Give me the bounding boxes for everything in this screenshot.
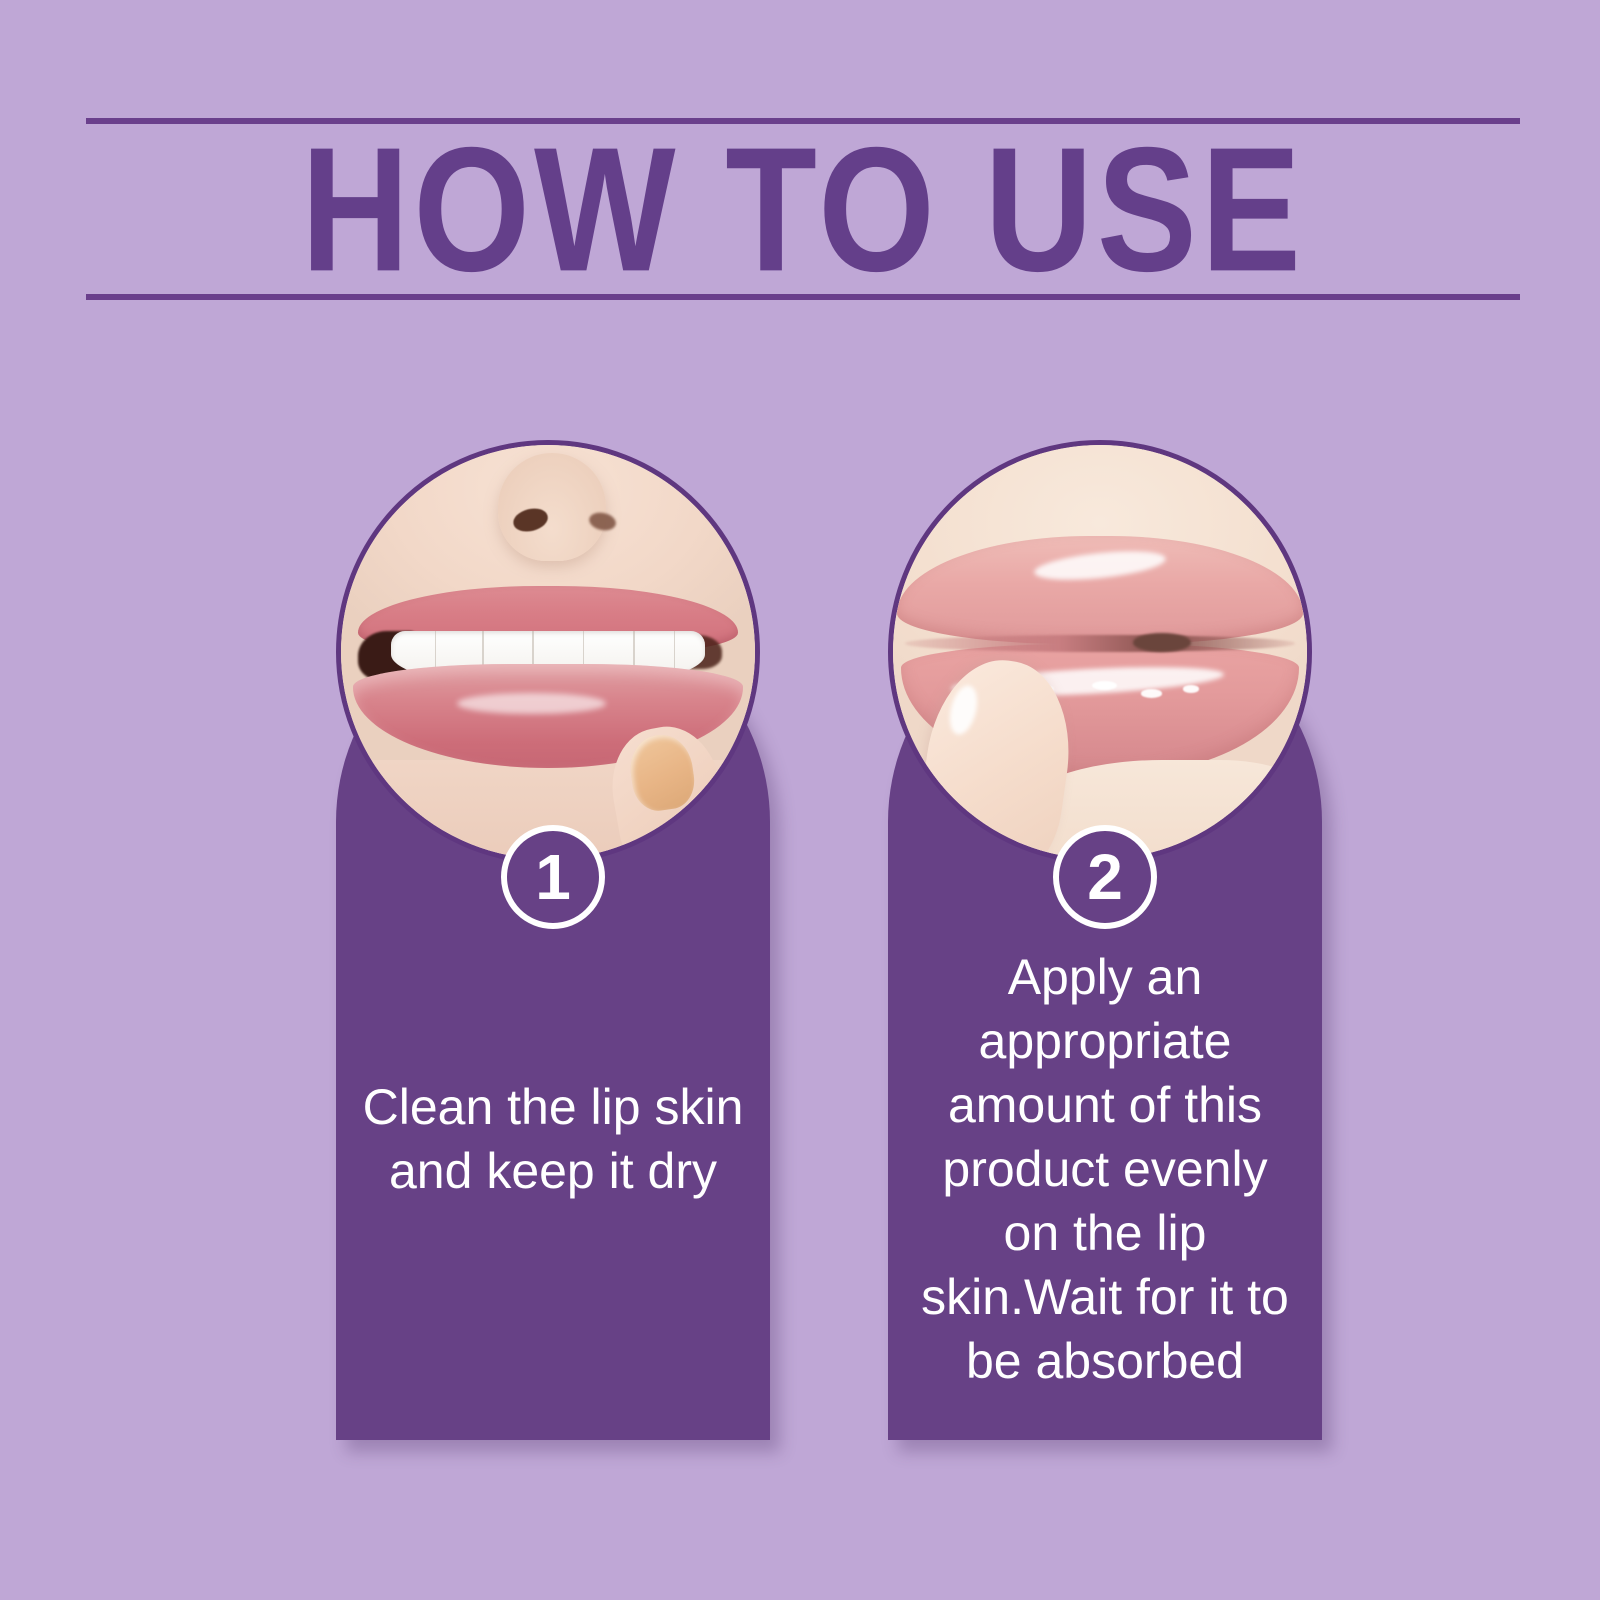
step-2-caption: Apply an appropriate amount of this prod… bbox=[910, 945, 1300, 1393]
glossy-lips-applying-photo bbox=[888, 440, 1312, 864]
step-1-number-badge: 1 bbox=[501, 825, 605, 929]
step-card-1: 1 Clean the lip skin and keep it dry bbox=[336, 440, 770, 1440]
steps-container: 1 Clean the lip skin and keep it dry bbox=[0, 0, 1600, 1600]
step-2-number-badge: 2 bbox=[1053, 825, 1157, 929]
smiling-mouth-photo bbox=[336, 440, 760, 864]
step-card-2: 2 Apply an appropriate amount of this pr… bbox=[888, 440, 1322, 1440]
step-1-caption: Clean the lip skin and keep it dry bbox=[358, 1075, 748, 1203]
how-to-use-infographic: HOW TO USE bbox=[0, 0, 1600, 1600]
